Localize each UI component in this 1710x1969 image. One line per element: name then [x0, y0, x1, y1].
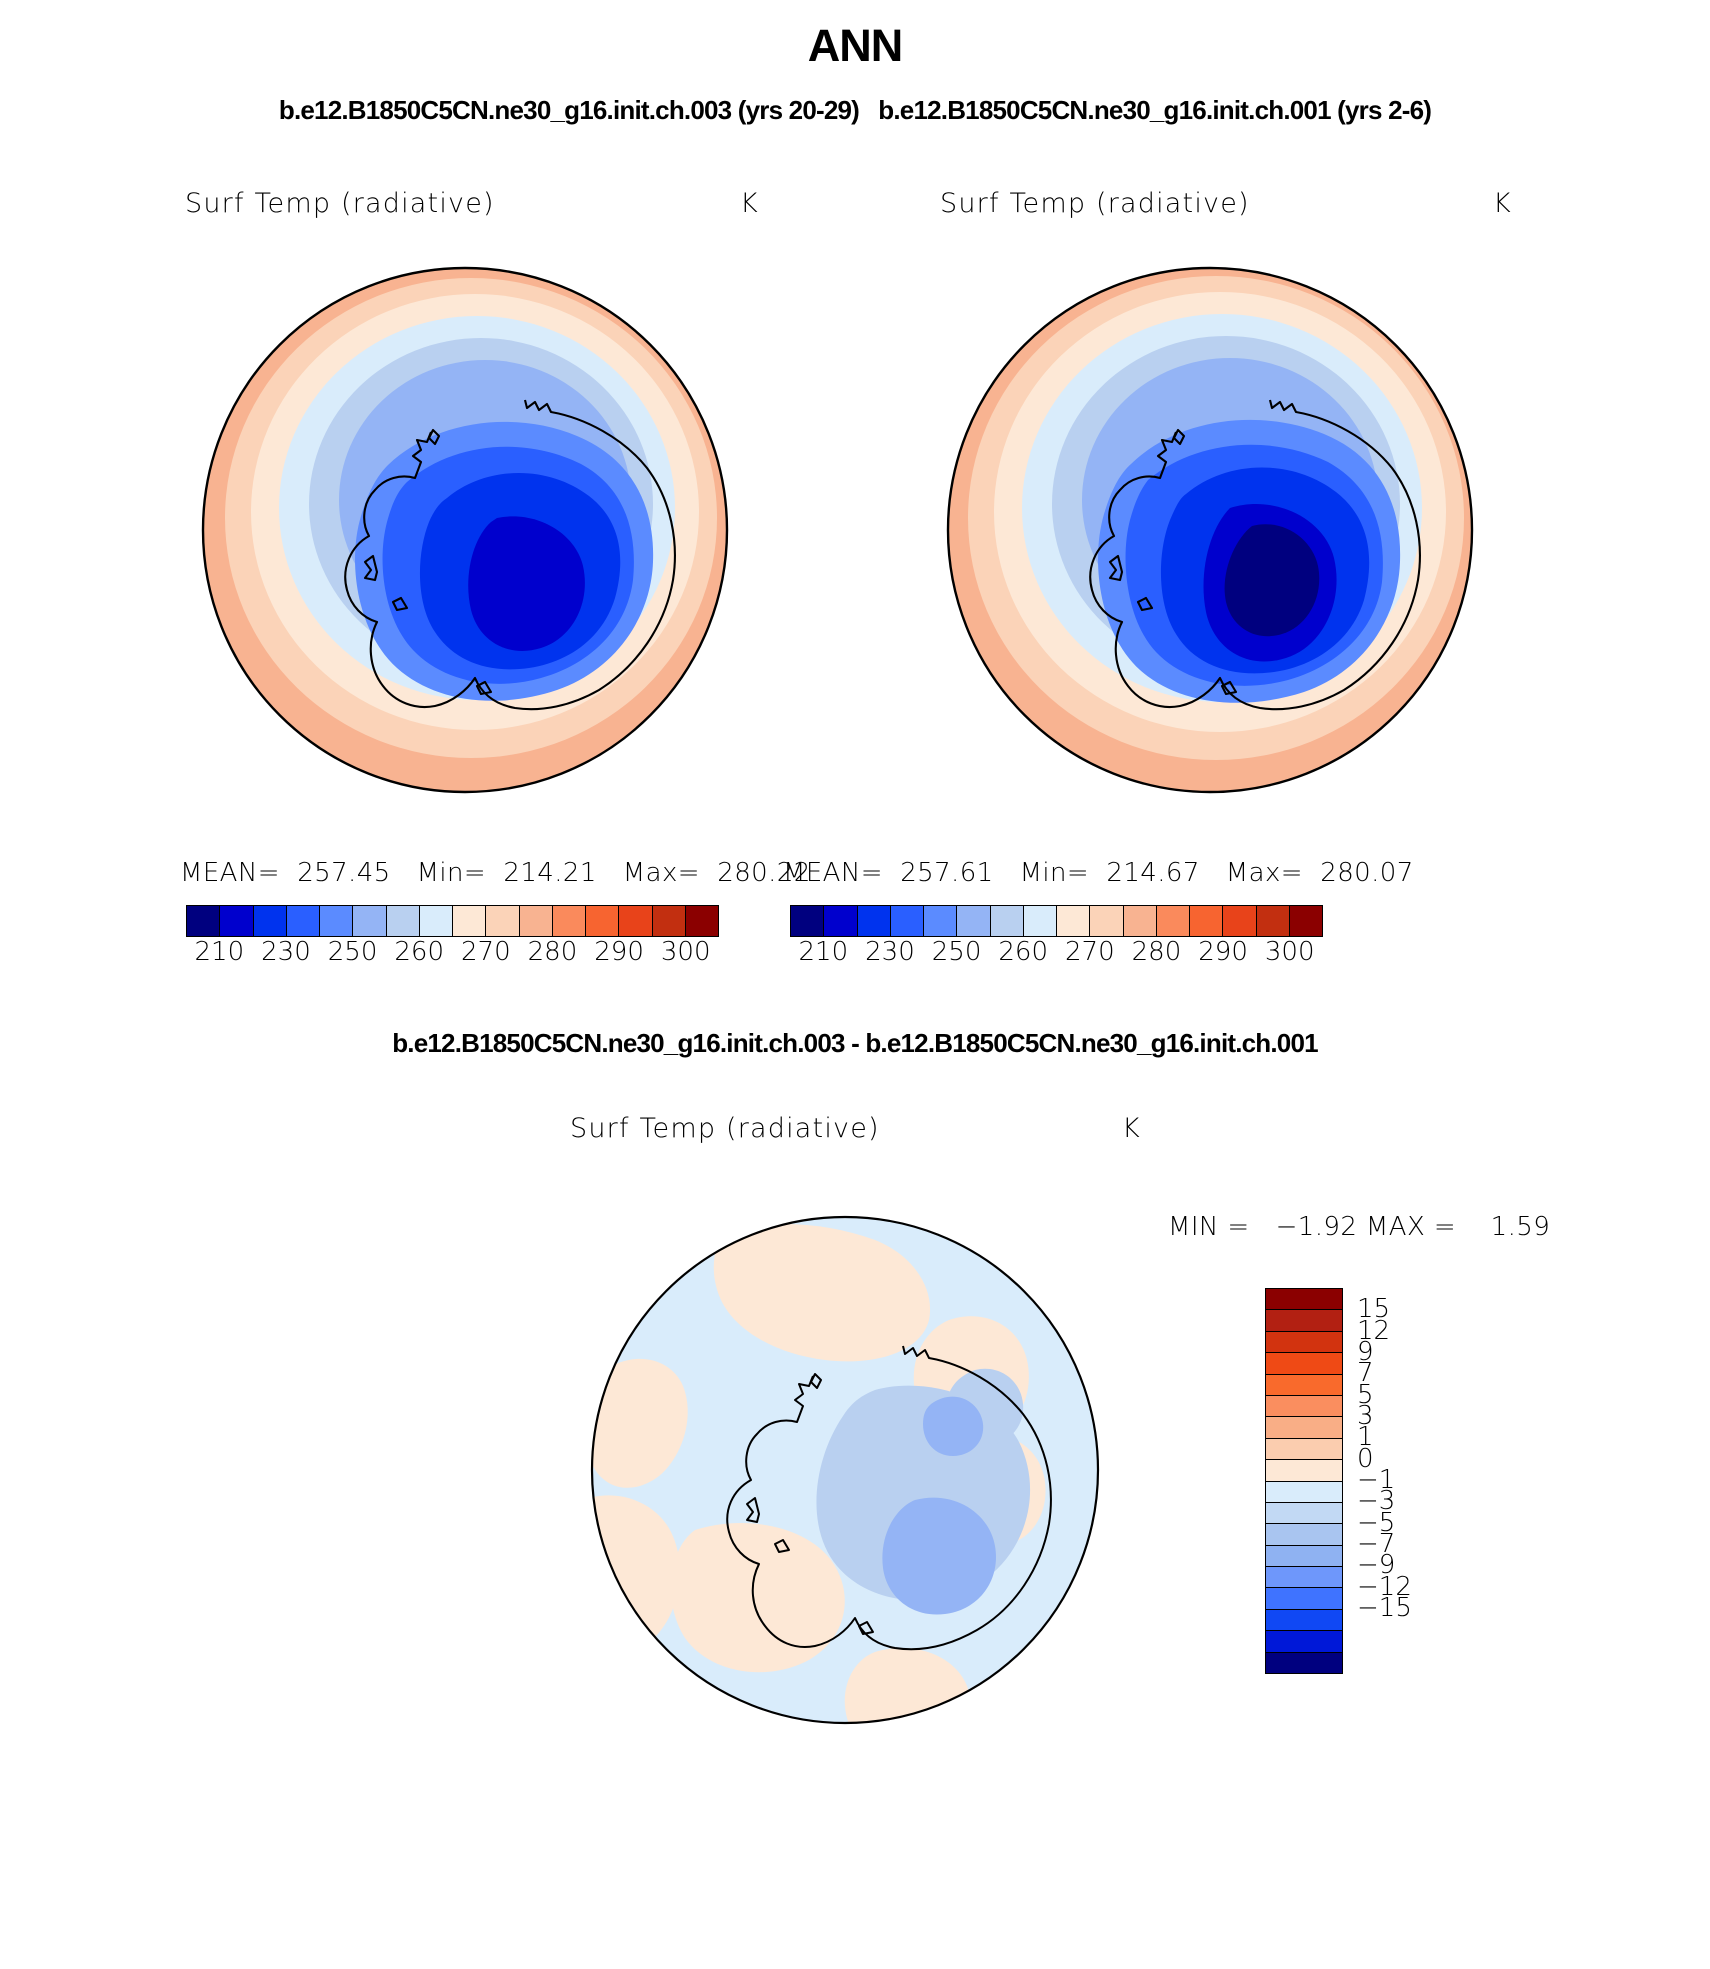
colorbar-tick-label: 230	[261, 937, 311, 967]
colorbar-cell	[686, 906, 718, 936]
right-colorbar-cells	[790, 905, 1323, 937]
colorbar-cell	[486, 906, 519, 936]
colorbar-tick-label: 260	[394, 937, 444, 967]
right-panel-variable-label: Surf Temp (radiative)	[940, 188, 1250, 219]
colorbar-tick-label: 280	[528, 937, 578, 967]
colorbar-cell	[1266, 1631, 1342, 1652]
colorbar-cell	[1266, 1439, 1342, 1460]
colorbar-cell	[1266, 1310, 1342, 1331]
diff-panel-stats: MIN = −1.92 MAX = 1.59	[1168, 1212, 1550, 1242]
difference-colorbar-cells	[1265, 1288, 1343, 1674]
right-panel-stats: MEAN= 257.61 Min= 214.67 Max= 280.07	[783, 858, 1414, 888]
colorbar-cell	[1266, 1375, 1342, 1396]
difference-colorbar: 1512975310−1−3−5−7−9−12−15	[1265, 1288, 1343, 1674]
colorbar-cell	[453, 906, 486, 936]
colorbar-cell	[991, 906, 1024, 936]
colorbar-cell	[1266, 1524, 1342, 1545]
colorbar-tick-label: 210	[194, 937, 244, 967]
colorbar-cell	[1266, 1567, 1342, 1588]
colorbar-cell	[320, 906, 353, 936]
difference-title: b.e12.B1850C5CN.ne30_g16.init.ch.003 - b…	[0, 1028, 1710, 1059]
colorbar-tick-label: 290	[594, 937, 644, 967]
colorbar-cell	[520, 906, 553, 936]
right-colorbar-ticks: 210230250260270280290300	[790, 937, 1323, 971]
colorbar-tick-label: 270	[461, 937, 511, 967]
colorbar-tick-label: 280	[1132, 937, 1182, 967]
left-polar-map	[185, 250, 745, 810]
colorbar-tick-label: 230	[865, 937, 915, 967]
difference-polar-map	[575, 1200, 1115, 1740]
colorbar-cell	[1157, 906, 1190, 936]
colorbar-tick-label: 300	[661, 937, 711, 967]
colorbar-cell	[1024, 906, 1057, 936]
colorbar-cell	[1266, 1482, 1342, 1503]
colorbar-cell	[1124, 906, 1157, 936]
left-panel-units-label: K	[740, 188, 759, 219]
colorbar-cell	[387, 906, 420, 936]
right-panel-units-label: K	[1493, 188, 1512, 219]
left-colorbar: 210230250260270280290300	[186, 905, 719, 971]
right-polar-map	[930, 250, 1490, 810]
case-subtitle: b.e12.B1850C5CN.ne30_g16.init.ch.003 (yr…	[0, 95, 1710, 126]
colorbar-cell	[858, 906, 891, 936]
left-panel-variable-label: Surf Temp (radiative)	[185, 188, 495, 219]
colorbar-cell	[586, 906, 619, 936]
colorbar-tick-label: 270	[1065, 937, 1115, 967]
colorbar-cell	[1090, 906, 1123, 936]
left-colorbar-ticks: 210230250260270280290300	[186, 937, 719, 971]
colorbar-cell	[824, 906, 857, 936]
colorbar-cell	[1057, 906, 1090, 936]
colorbar-cell	[353, 906, 386, 936]
colorbar-cell	[1266, 1289, 1342, 1310]
colorbar-cell	[653, 906, 686, 936]
diff-panel-units-label: K	[1122, 1113, 1141, 1144]
colorbar-tick-label: 250	[932, 937, 982, 967]
colorbar-tick-label: 260	[998, 937, 1048, 967]
colorbar-cell	[1290, 906, 1322, 936]
colorbar-cell	[1257, 906, 1290, 936]
colorbar-cell	[1266, 1588, 1342, 1609]
colorbar-cell	[254, 906, 287, 936]
colorbar-cell	[957, 906, 990, 936]
left-colorbar-cells	[186, 905, 719, 937]
colorbar-tick-label: 290	[1198, 937, 1248, 967]
colorbar-cell	[1266, 1546, 1342, 1567]
colorbar-cell	[924, 906, 957, 936]
main-title: ANN	[0, 20, 1710, 72]
colorbar-cell	[420, 906, 453, 936]
colorbar-cell	[1266, 1332, 1342, 1353]
colorbar-cell	[187, 906, 220, 936]
colorbar-cell	[1266, 1396, 1342, 1417]
colorbar-cell	[891, 906, 924, 936]
colorbar-cell	[791, 906, 824, 936]
colorbar-tick-label: −15	[1357, 1593, 1412, 1623]
colorbar-cell	[220, 906, 253, 936]
left-panel-stats: MEAN= 257.45 Min= 214.21 Max= 280.22	[180, 858, 811, 888]
colorbar-cell	[1266, 1503, 1342, 1524]
difference-colorbar-ticks: 1512975310−1−3−5−7−9−12−15	[1357, 1288, 1447, 1672]
colorbar-tick-label: 300	[1265, 937, 1315, 967]
colorbar-cell	[553, 906, 586, 936]
colorbar-cell	[1190, 906, 1223, 936]
colorbar-tick-label: 250	[328, 937, 378, 967]
colorbar-cell	[1223, 906, 1256, 936]
right-colorbar: 210230250260270280290300	[790, 905, 1323, 971]
colorbar-cell	[1266, 1417, 1342, 1438]
colorbar-cell	[1266, 1653, 1342, 1673]
colorbar-cell	[1266, 1460, 1342, 1481]
colorbar-cell	[287, 906, 320, 936]
diff-panel-variable-label: Surf Temp (radiative)	[570, 1113, 880, 1144]
colorbar-cell	[1266, 1610, 1342, 1631]
colorbar-tick-label: 210	[798, 937, 848, 967]
colorbar-cell	[619, 906, 652, 936]
colorbar-cell	[1266, 1353, 1342, 1374]
